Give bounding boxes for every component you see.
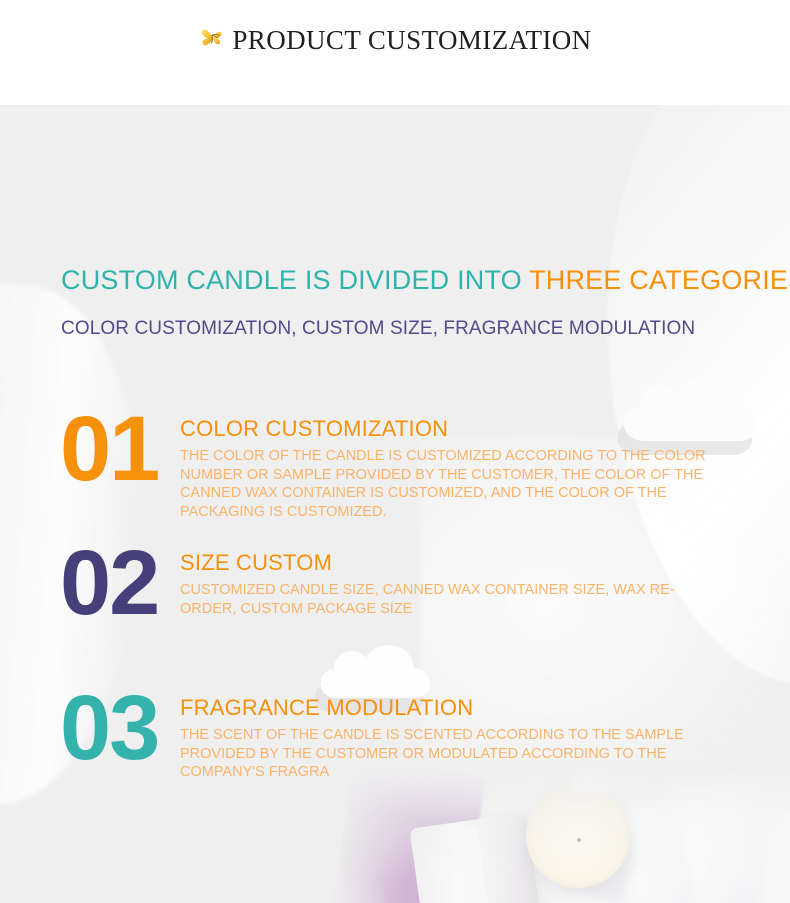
header-inner: PRODUCT CUSTOMIZATION	[198, 24, 591, 58]
feature-number: 02	[60, 542, 180, 625]
feature-title: SIZE CUSTOM	[180, 550, 725, 576]
feature-item-01: 01 COLOR CUSTOMIZATION THE COLOR OF THE …	[60, 408, 725, 521]
hero-heading-teal: CUSTOM CANDLE IS DIVIDED INTO	[61, 265, 529, 295]
candle-wick	[577, 838, 581, 842]
page-title: PRODUCT CUSTOMIZATION	[232, 25, 591, 56]
feature-body: SIZE CUSTOM CUSTOMIZED CANDLE SIZE, CANN…	[180, 542, 725, 618]
hero-heading-orange: THREE CATEGORIES	[529, 265, 790, 295]
product-customization-page: PRODUCT CUSTOMIZATION CUSTOM CAND	[0, 0, 790, 903]
product-photo	[330, 760, 790, 903]
butterfly-icon	[198, 24, 228, 54]
feature-number: 03	[60, 687, 180, 770]
feature-item-02: 02 SIZE CUSTOM CUSTOMIZED CANDLE SIZE, C…	[60, 542, 725, 625]
candle-jar-left	[409, 812, 544, 903]
decorative-flowers	[570, 760, 622, 792]
feature-description: CUSTOMIZED CANDLE SIZE, CANNED WAX CONTA…	[180, 581, 725, 618]
hero-heading: CUSTOM CANDLE IS DIVIDED INTO THREE CATE…	[61, 265, 790, 296]
page-header: PRODUCT CUSTOMIZATION	[0, 0, 790, 105]
feature-body: COLOR CUSTOMIZATION THE COLOR OF THE CAN…	[180, 408, 725, 521]
content-panel: CUSTOM CANDLE IS DIVIDED INTO THREE CATE…	[0, 105, 790, 903]
feature-description: THE COLOR OF THE CANDLE IS CUSTOMIZED AC…	[180, 447, 725, 521]
candle-jar-right	[526, 784, 630, 888]
feature-title: FRAGRANCE MODULATION	[180, 695, 725, 721]
feature-title: COLOR CUSTOMIZATION	[180, 416, 725, 442]
feature-number: 01	[60, 408, 180, 491]
hero-subheading: COLOR CUSTOMIZATION, CUSTOM SIZE, FRAGRA…	[61, 318, 695, 340]
